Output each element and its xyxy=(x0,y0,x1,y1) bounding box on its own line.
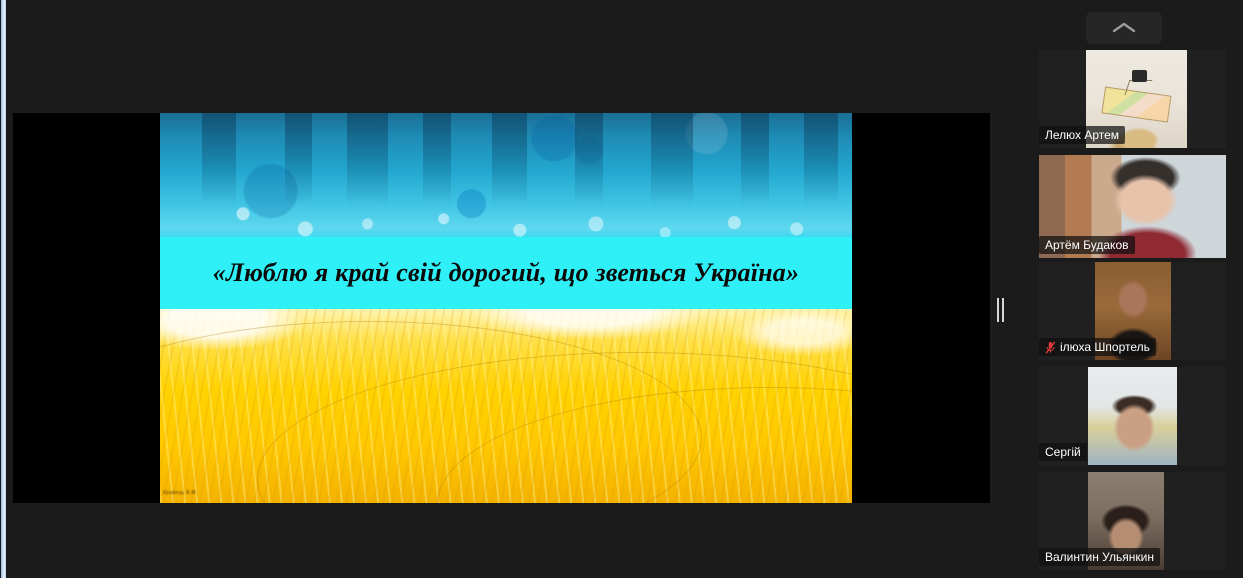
participant-name-badge: Артём Будаков xyxy=(1039,236,1135,254)
presentation-slide: «Люблю я край свій дорогий, що зветься У… xyxy=(160,113,852,503)
meeting-window: «Люблю я край свій дорогий, що зветься У… xyxy=(0,0,1243,578)
resize-handle[interactable] xyxy=(993,298,1007,322)
participant-video xyxy=(1088,367,1177,465)
left-scrollbar-thumb[interactable] xyxy=(1,0,6,578)
slide-title: «Люблю я край свій дорогий, що зветься У… xyxy=(213,258,799,288)
participant-name: Артём Будаков xyxy=(1045,239,1129,251)
participant-tile[interactable]: Лелюх Артем xyxy=(1039,50,1226,148)
left-scrollbar[interactable] xyxy=(0,0,8,578)
slide-sky-image xyxy=(160,113,852,239)
slide-author-caption: Кравець В.М. xyxy=(163,490,198,496)
screen-share-stage[interactable]: «Люблю я край свій дорогий, що зветься У… xyxy=(8,0,1030,578)
slide-field-image: Кравець В.М. xyxy=(160,309,852,503)
participant-name-badge: Лелюх Артем xyxy=(1039,126,1125,144)
participant-tile[interactable]: Валинтин Ульянкин xyxy=(1039,472,1226,570)
participant-name-badge: Сергій xyxy=(1039,443,1087,461)
chevron-up-icon xyxy=(1111,21,1137,35)
wall-camera xyxy=(1132,70,1146,83)
participant-name: ілюха Шпортель xyxy=(1060,341,1150,353)
participant-name-badge: ілюха Шпортель xyxy=(1039,338,1156,356)
participant-strip[interactable]: Лелюх АртемАртём Будаковілюха ШпортельСе… xyxy=(1030,0,1243,578)
slide-title-band: «Люблю я край свій дорогий, що зветься У… xyxy=(160,237,852,309)
participant-name-badge: Валинтин Ульянкин xyxy=(1039,548,1160,566)
participant-name: Сергій xyxy=(1045,446,1081,458)
participant-tile[interactable]: Артём Будаков xyxy=(1039,155,1226,258)
participant-tile[interactable]: ілюха Шпортель xyxy=(1039,262,1226,360)
microphone-muted-icon xyxy=(1045,341,1056,354)
collapse-strip-button[interactable] xyxy=(1086,12,1162,44)
participant-name: Валинтин Ульянкин xyxy=(1045,551,1154,563)
shared-content-canvas[interactable]: «Люблю я край свій дорогий, що зветься У… xyxy=(13,113,990,503)
participant-name: Лелюх Артем xyxy=(1045,129,1119,141)
participant-tile[interactable]: Сергій xyxy=(1039,367,1226,465)
